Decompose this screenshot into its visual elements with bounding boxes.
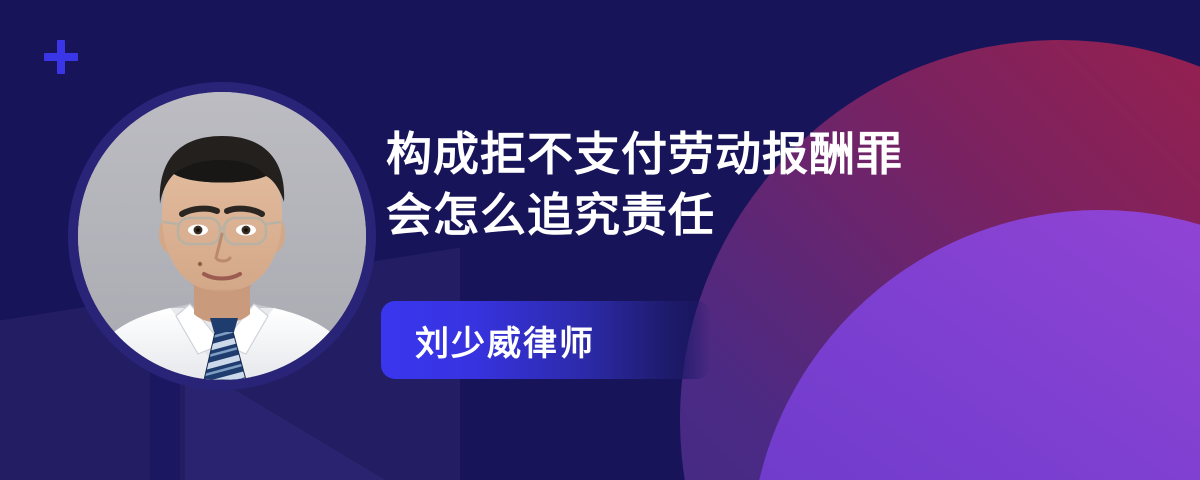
lawyer-name-button[interactable]: 刘少威律师	[381, 301, 711, 379]
avatar	[78, 92, 366, 380]
plus-icon-vertical-bar	[57, 40, 65, 74]
plus-icon	[44, 40, 78, 74]
page-title: 构成拒不支付劳动报酬罪 会怎么追究责任	[386, 124, 1086, 245]
decorative-inner-arc-shape	[750, 210, 1200, 480]
avatar-portrait-illustration	[78, 92, 366, 380]
headline-block: 构成拒不支付劳动报酬罪 会怎么追究责任	[386, 124, 1086, 245]
lawyer-name-label: 刘少威律师	[381, 316, 595, 365]
decorative-outer-arc-shape	[680, 40, 1200, 480]
lawyer-question-banner: 构成拒不支付劳动报酬罪 会怎么追究责任 刘少威律师	[0, 0, 1200, 480]
